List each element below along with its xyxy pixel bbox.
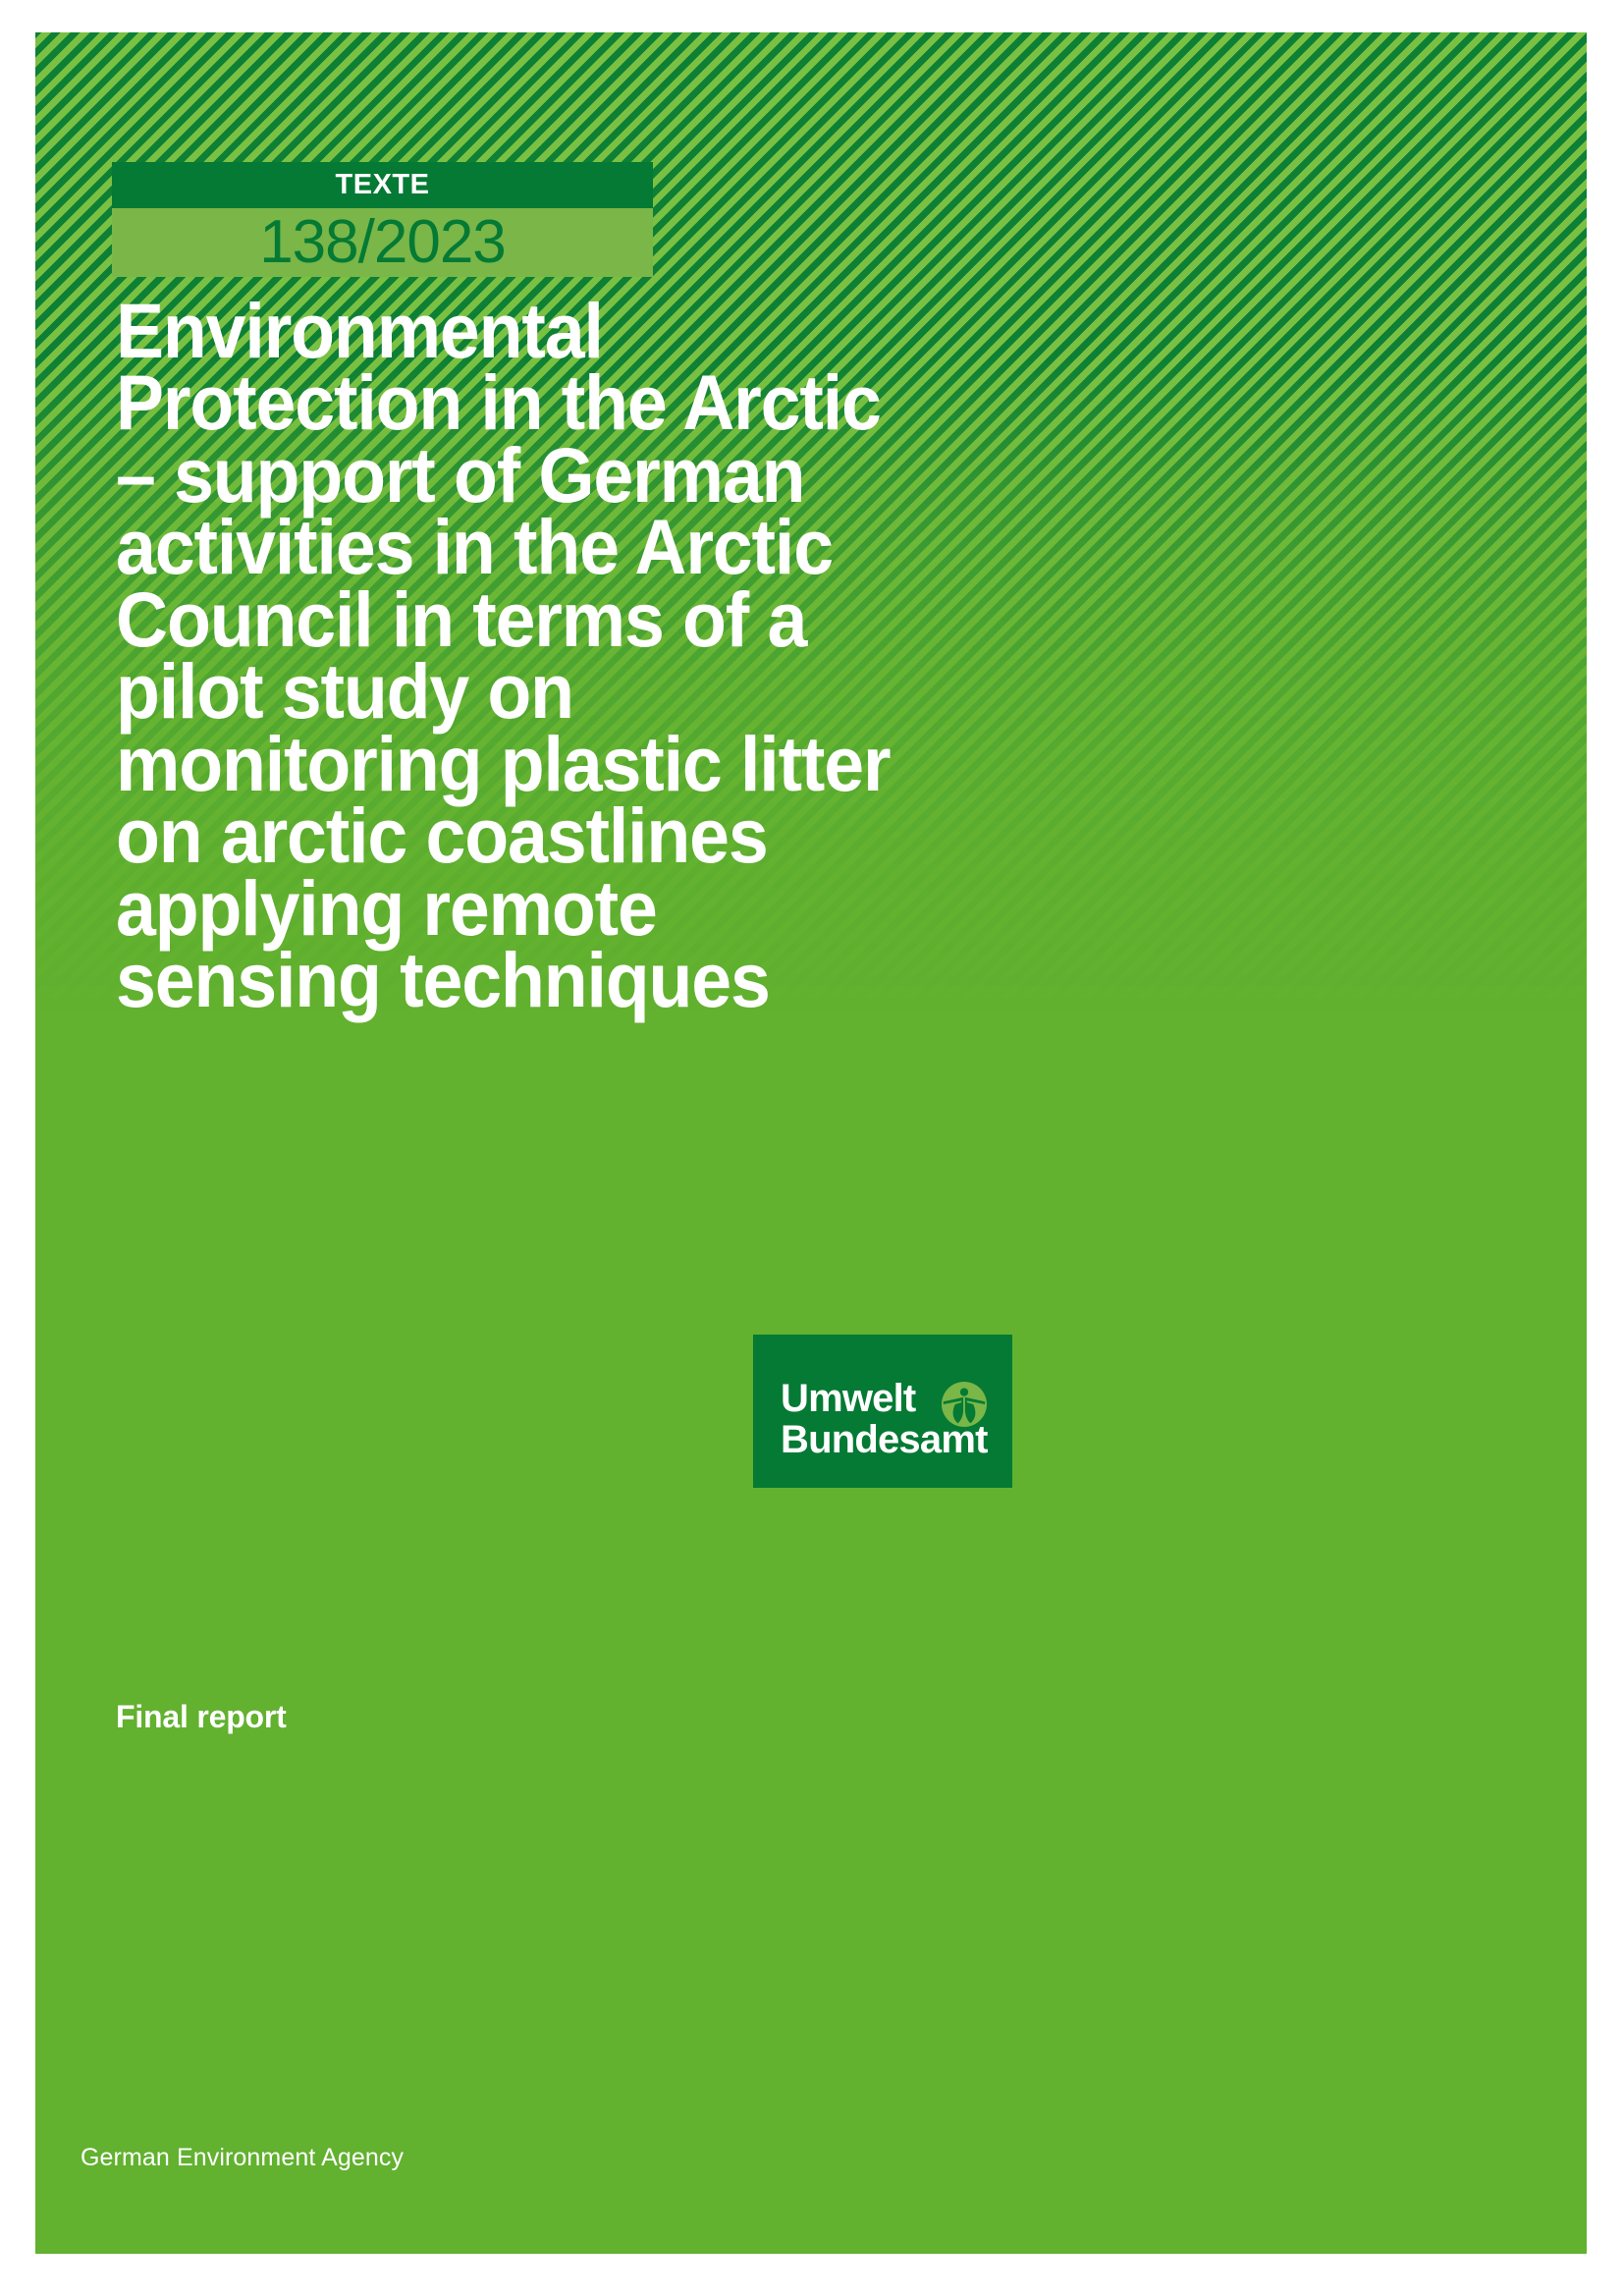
title-line-9: applying remote: [116, 872, 1029, 944]
report-cover: TEXTE 138/2023 Environmental Protection …: [35, 32, 1587, 2254]
series-label: TEXTE: [336, 171, 430, 199]
title-line-3: – support of German: [116, 439, 1029, 511]
series-label-bar: TEXTE: [112, 162, 653, 208]
title-line-7: monitoring plastic litter: [116, 728, 1029, 799]
agency-name: German Environment Agency: [81, 2144, 404, 2172]
title-line-10: sensing techniques: [116, 944, 1029, 1015]
title-line-5: Council in terms of a: [116, 583, 1029, 655]
series-badge: TEXTE 138/2023: [112, 162, 653, 277]
title-line-2: Protection in the Arctic: [116, 366, 1029, 438]
uba-human-circle-icon: [942, 1382, 987, 1427]
umweltbundesamt-logo: Umwelt Bundesamt: [753, 1335, 1012, 1488]
title-line-6: pilot study on: [116, 655, 1029, 727]
title-line-8: on arctic coastlines: [116, 799, 1029, 871]
title-line-1: Environmental: [116, 295, 1029, 366]
title-line-4: activities in the Arctic: [116, 511, 1029, 582]
page-title: Environmental Protection in the Arctic –…: [116, 295, 1029, 1016]
issue-number-box: 138/2023: [112, 208, 653, 277]
report-subtitle: Final report: [116, 1699, 287, 1735]
issue-number: 138/2023: [259, 212, 506, 273]
